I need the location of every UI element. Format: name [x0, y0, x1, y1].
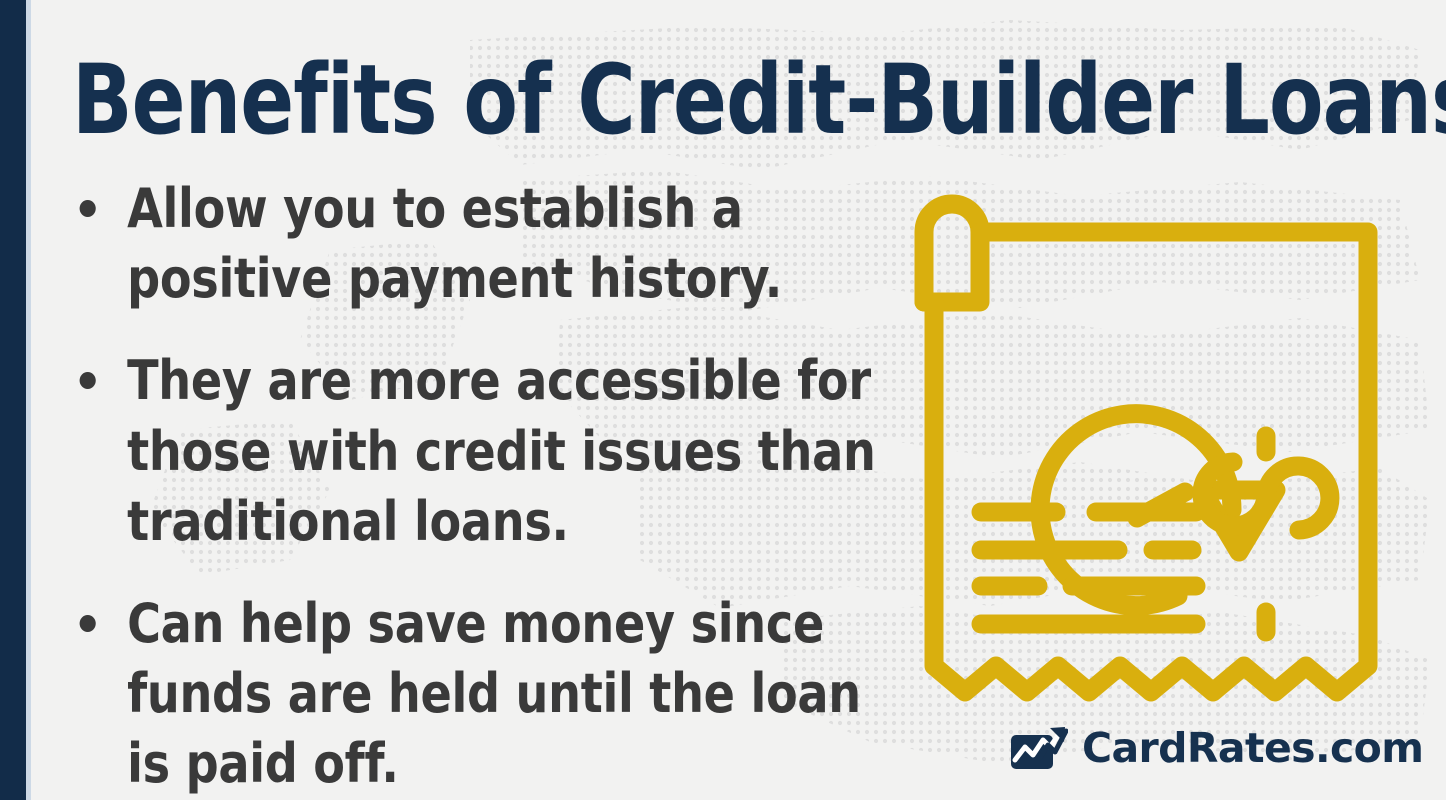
list-item-text: Allow you to establish a positive paymen… — [127, 177, 782, 310]
receipt-illustration — [896, 180, 1396, 710]
brand-name: CardRates.com — [1082, 724, 1423, 772]
left-accent-strip — [0, 0, 26, 800]
list-item-text: Can help save money since funds are held… — [127, 592, 861, 795]
list-item: Allow you to establish a positive paymen… — [72, 174, 889, 314]
benefits-list: Allow you to establish a positive paymen… — [72, 174, 932, 800]
brand-logo[interactable]: CardRates.com — [1010, 724, 1423, 772]
left-hairline-rule — [26, 0, 31, 800]
infographic-canvas: Benefits of Credit-Builder Loans Allow y… — [0, 0, 1446, 800]
list-item-text: They are more accessible for those with … — [127, 349, 875, 552]
list-item: Can help save money since funds are held… — [72, 589, 889, 800]
bullet-dot-icon — [80, 372, 96, 389]
chart-arrow-icon — [1010, 725, 1068, 771]
page-curl-icon — [924, 204, 980, 302]
bullet-dot-icon — [80, 200, 96, 217]
text-column: Benefits of Credit-Builder Loans Allow y… — [72, 52, 932, 800]
bullet-dot-icon — [80, 615, 96, 632]
page-title: Benefits of Credit-Builder Loans — [72, 52, 863, 148]
list-item: They are more accessible for those with … — [72, 346, 889, 557]
